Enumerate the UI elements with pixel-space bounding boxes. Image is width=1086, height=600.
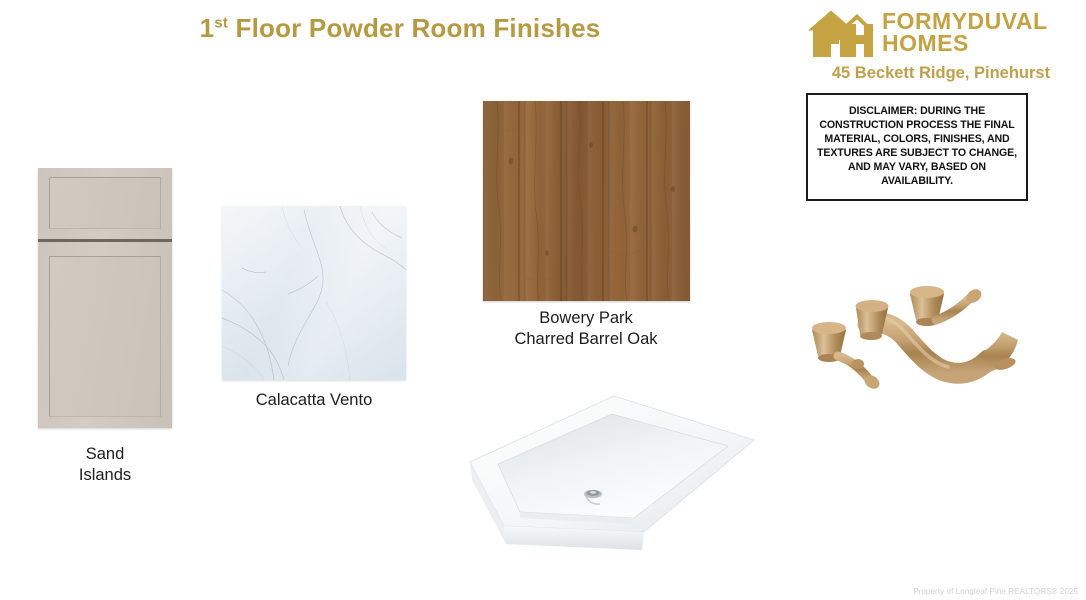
page-title-number: 1 <box>200 13 215 43</box>
fh-house-logo-icon <box>808 7 874 59</box>
watermark-text: Property of Longleaf Pine REALTORS® 2025 <box>913 587 1078 596</box>
countertop-sample <box>222 206 406 380</box>
disclaimer-text: DISCLAIMER: DURING THE CONSTRUCTION PROC… <box>814 105 1020 189</box>
sink-sample <box>462 384 764 556</box>
flooring-sample-label: Bowery Park Charred Barrel Oak <box>470 308 702 350</box>
cabinet-sample-label: Sand Islands <box>18 444 192 486</box>
cabinet-door-sample <box>38 168 172 428</box>
brand-name-line2: HOMES <box>882 33 1048 55</box>
brand-block: FORMYDUVAL HOMES 45 Beckett Ridge, Pineh… <box>800 4 1082 83</box>
brand-wordmark: FORMYDUVAL HOMES <box>882 11 1048 55</box>
flooring-sample <box>483 101 690 301</box>
cabinet-drawer-front <box>38 168 172 242</box>
cabinet-door-front <box>38 245 172 428</box>
marble-veining <box>222 206 406 380</box>
brand-address: 45 Beckett Ridge, Pinehurst <box>800 64 1082 83</box>
cabinet-drawer-panel <box>49 177 161 229</box>
brand-row: FORMYDUVAL HOMES <box>800 4 1082 62</box>
cabinet-door-panel <box>49 256 161 417</box>
page-title: 1st Floor Powder Room Finishes <box>0 13 800 44</box>
page-title-ordinal: st <box>214 14 228 31</box>
countertop-sample-label: Calacatta Vento <box>218 390 410 411</box>
wood-grain <box>483 101 690 301</box>
faucet-sample <box>798 268 1066 412</box>
disclaimer-box: DISCLAIMER: DURING THE CONSTRUCTION PROC… <box>806 93 1028 201</box>
page-title-rest: Floor Powder Room Finishes <box>228 13 600 43</box>
